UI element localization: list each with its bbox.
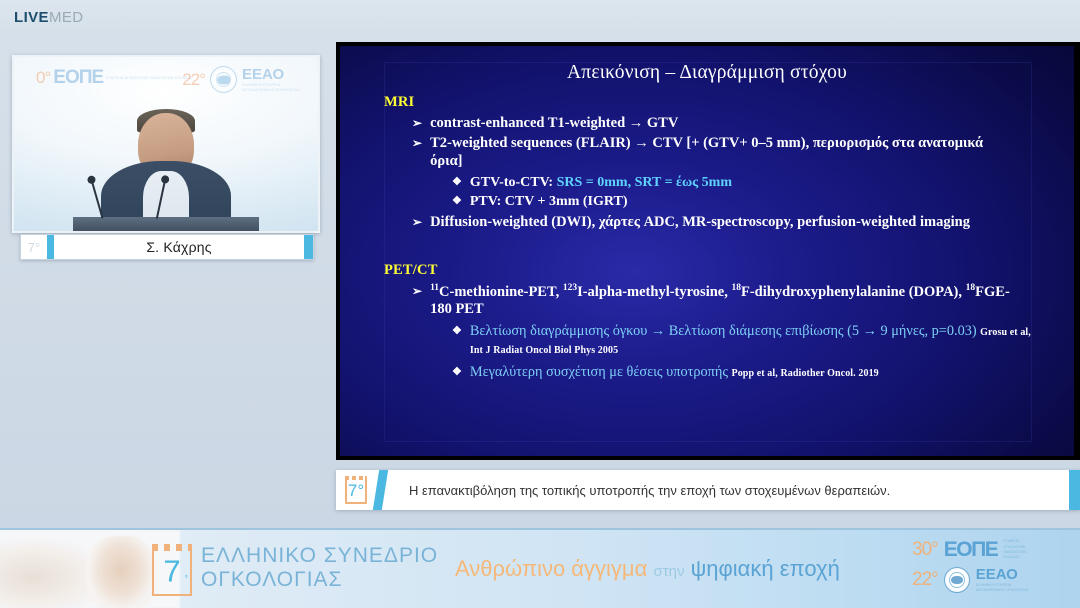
eope-word: ΕΟΠΕ xyxy=(944,538,998,562)
bullet-diamond-icon: ❖ xyxy=(452,364,462,382)
subbullet-group: Βελτίωση διαγράμμισης όγκου → Βελτίωση δ… xyxy=(470,323,1042,358)
congress-degree: ° xyxy=(185,574,188,583)
backdrop-eope-number: 0° xyxy=(36,68,50,88)
podium xyxy=(73,217,259,233)
eeao-number: 22° xyxy=(912,569,938,591)
tagline-orange-part: Ανθρώπινο άγγιγμα xyxy=(455,556,647,581)
subbullet-text: Μεγαλύτερη συσχέτιση με θέσεις υποτροπής xyxy=(470,364,728,380)
congress-name: ΕΛΛΗΝΙΚΟ ΣΥΝΕΔΡΙΟ ΟΓΚΟΛΟΓΙΑΣ xyxy=(201,544,438,591)
backdrop-eeao-logo: 22° ΕΕΑΟ ΕΛΛΗΝΙΚΗ ΕΤΑΙΡΕΙΑ ΑΝΤΙΚΑΡΚΙΝΙΚΗ… xyxy=(182,66,302,93)
backdrop-eeao-subtitle: ΕΛΛΗΝΙΚΗ ΕΤΑΙΡΕΙΑ ΑΝΤΙΚΑΡΚΙΝΙΚΗΣ ΟΓΚΟΛΟΓ… xyxy=(242,83,302,93)
backdrop-seal-icon xyxy=(210,66,237,93)
talk-title-bar: 7° Η επανακτιβόληση της τοπικής υποτροπή… xyxy=(336,470,1080,510)
accent-stripe-right xyxy=(1069,470,1080,510)
congress-number: 7 xyxy=(163,556,180,587)
eeao-seal-icon xyxy=(944,567,970,593)
bullet-text: Diffusion-weighted (DWI), χάρτες ADC, MR… xyxy=(430,214,970,232)
bullet-text: 11C-methionine-PET, 123I-alpha-methyl-ty… xyxy=(430,283,1022,320)
congress-badge-icon: 7° xyxy=(21,235,47,259)
backdrop-eope-logo: 0° ΕΟΠΕ ΕΤΑΙΡΕΙΑ ΟΓΚΟΛΟΓΩΝ ΠΑΘΟΛΟΓΩΝ ΕΛΛ… xyxy=(36,67,193,89)
subbullet-text: PTV: CTV + 3mm (IGRT) xyxy=(470,193,628,210)
congress-line-1: ΕΛΛΗΝΙΚΟ ΣΥΝΕΔΡΙΟ xyxy=(201,544,438,568)
logo-primary-text: LIVE xyxy=(14,9,49,26)
app-header: LIVEMED xyxy=(0,0,1080,34)
subbullet-text: GTV-to-CTV: xyxy=(470,175,557,190)
slide-title: Απεικόνιση – Διαγράμμιση στόχου xyxy=(340,46,1074,84)
isotope-fge18: 18 xyxy=(966,283,976,293)
speaker-name-bar: 7° Σ. Κάχρης xyxy=(20,234,314,260)
isotope-f18: 18 xyxy=(731,283,741,293)
accent-stripe xyxy=(47,235,54,259)
slide-subbullet: ❖ Μεγαλύτερη συσχέτιση με θέσεις υποτροπ… xyxy=(452,364,1042,382)
tagline-blue-part: ψηφιακή εποχή xyxy=(691,556,840,581)
bullet-arrow-icon: ➢ xyxy=(412,115,422,133)
castle-logo-icon: 7 ° xyxy=(152,544,192,596)
eope-number: 30° xyxy=(912,539,938,561)
slide-bullet: ➢ T2-weighted sequences (FLAIR) → CTV [+… xyxy=(412,135,1012,171)
slide-subbullet: ❖ PTV: CTV + 3mm (IGRT) xyxy=(452,193,1074,210)
eeao-logo: 22° ΕΕΑΟ ΕΛΛΗΝΙΚΗ ΕΤΑΙΡΕΙΑ ΑΝΤΙΚΑΡΚΙΝΙΚΗ… xyxy=(912,566,1072,594)
livemed-logo[interactable]: LIVEMED xyxy=(14,9,84,26)
congress-badge-icon: 7° xyxy=(336,470,376,510)
badge-number: 7° xyxy=(348,482,364,499)
conference-footer: 7 ° ΕΛΛΗΝΙΚΟ ΣΥΝΕΔΡΙΟ ΟΓΚΟΛΟΓΙΑΣ Ανθρώπι… xyxy=(0,528,1080,608)
bullet-diamond-icon: ❖ xyxy=(452,174,462,191)
eope-subtitle: ΕΤΑΙΡΕΙΑ ΟΓΚΟΛΟΓΩΝ ΠΑΘΟΛΟΓΩΝ ΕΛΛΑΔΑΣ xyxy=(1003,539,1037,561)
bullet-arrow-icon: ➢ xyxy=(412,135,422,171)
eeao-text-group: ΕΕΑΟ ΕΛΛΗΝΙΚΗ ΕΤΑΙΡΕΙΑ ΑΝΤΙΚΑΡΚΙΝΙΚΗΣ ΟΓ… xyxy=(976,566,1034,594)
isotope-c11: 11 xyxy=(430,283,439,293)
slide-subbullet: ❖ Βελτίωση διαγράμμισης όγκου → Βελτίωση… xyxy=(452,323,1042,358)
slide-bullet: ➢ Diffusion-weighted (DWI), χάρτες ADC, … xyxy=(412,214,1012,232)
citation-reference: Grosu et al, Int J Radiat Oncol Biol Phy… xyxy=(470,327,1031,356)
speaker-name: Σ. Κάχρης xyxy=(54,239,304,255)
subbullet-group: GTV-to-CTV: SRS = 0mm, SRT = έως 5mm xyxy=(470,174,732,191)
backdrop-eeao-word: ΕΕΑΟ xyxy=(242,66,302,83)
backdrop-eeao-group: ΕΕΑΟ ΕΛΛΗΝΙΚΗ ΕΤΑΙΡΕΙΑ ΑΝΤΙΚΑΡΚΙΝΙΚΗΣ ΟΓ… xyxy=(242,66,302,93)
congress-tagline: Ανθρώπινο άγγιγμα στην ψηφιακή εποχή xyxy=(455,556,840,582)
backdrop-eope-subtitle: ΕΤΑΙΡΕΙΑ ΟΓΚΟΛΟΓΩΝ ΠΑΘΟΛΟΓΩΝ ΕΛΛΑΔΑΣ xyxy=(106,76,193,81)
sponsor-logos: 30° ΕΟΠΕ ΕΤΑΙΡΕΙΑ ΟΓΚΟΛΟΓΩΝ ΠΑΘΟΛΟΓΩΝ ΕΛ… xyxy=(912,538,1072,598)
slide-bullet: ➢ contrast-enhanced T1-weighted → GTV xyxy=(412,115,1074,133)
speaker-figure xyxy=(91,107,241,233)
bullet-diamond-icon: ❖ xyxy=(452,323,462,358)
speaker-video-player[interactable]: 0° ΕΟΠΕ ΕΤΑΙΡΕΙΑ ΟΓΚΟΛΟΓΩΝ ΠΑΘΟΛΟΓΩΝ ΕΛΛ… xyxy=(12,55,320,233)
bullet-arrow-icon: ➢ xyxy=(412,214,422,232)
eope-logo: 30° ΕΟΠΕ ΕΤΑΙΡΕΙΑ ΟΓΚΟΛΟΓΩΝ ΠΑΘΟΛΟΓΩΝ ΕΛ… xyxy=(912,538,1072,562)
bullet-text: T2-weighted sequences (FLAIR) → CTV [+ (… xyxy=(430,135,1012,171)
talk-title-text: Η επανακτιβόληση της τοπικής υποτροπής τ… xyxy=(385,483,1069,498)
slide-section-heading-mri: MRI xyxy=(384,94,1074,111)
bullet-diamond-icon: ❖ xyxy=(452,193,462,210)
subbullet-highlight: SRS = 0mm, SRT = έως 5mm xyxy=(557,175,732,190)
isotope-i123: 123 xyxy=(563,283,577,293)
subbullet-text: Βελτίωση διαγράμμισης όγκου → Βελτίωση δ… xyxy=(470,323,977,339)
slide-subbullet: ❖ GTV-to-CTV: SRS = 0mm, SRT = έως 5mm xyxy=(452,174,1074,191)
slide-content: Απεικόνιση – Διαγράμμιση στόχου MRI ➢ co… xyxy=(340,46,1074,456)
slide-section-heading-petct: PET/CT xyxy=(384,262,1074,279)
slide-bullet: ➢ 11C-methionine-PET, 123I-alpha-methyl-… xyxy=(412,283,1022,320)
subbullet-group: Μεγαλύτερη συσχέτιση με θέσεις υποτροπής… xyxy=(470,364,879,382)
logo-secondary-text: MED xyxy=(49,9,84,26)
bullet-arrow-icon: ➢ xyxy=(412,283,422,320)
citation-reference: Popp et al, Radiother Oncol. 2019 xyxy=(732,368,879,379)
backdrop-eope-word: ΕΟΠΕ xyxy=(53,67,103,89)
congress-line-2: ΟΓΚΟΛΟΓΙΑΣ xyxy=(201,568,438,592)
bullet-text: contrast-enhanced T1-weighted → GTV xyxy=(430,115,678,133)
tagline-connector: στην xyxy=(653,563,684,580)
backdrop-eeao-number: 22° xyxy=(182,70,205,90)
accent-stripe-right xyxy=(304,235,313,259)
eeao-subtitle: ΕΛΛΗΝΙΚΗ ΕΤΑΙΡΕΙΑ ΑΝΤΙΚΑΡΚΙΝΙΚΗΣ ΟΓΚΟΛΟΓ… xyxy=(976,583,1034,594)
presentation-slide[interactable]: Απεικόνιση – Διαγράμμιση στόχου MRI ➢ co… xyxy=(336,42,1080,460)
congress-identity: 7 ° ΕΛΛΗΝΙΚΟ ΣΥΝΕΔΡΙΟ ΟΓΚΟΛΟΓΙΑΣ xyxy=(152,544,438,596)
eeao-word: ΕΕΑΟ xyxy=(976,566,1034,583)
